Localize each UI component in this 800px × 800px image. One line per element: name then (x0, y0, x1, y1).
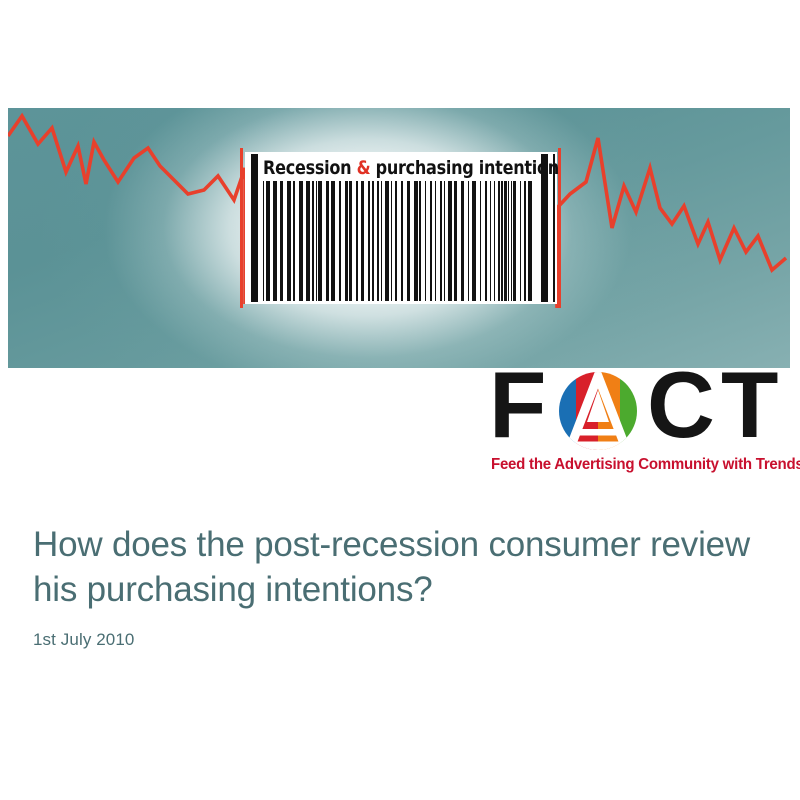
barcode-bars (263, 181, 537, 301)
barcode-title: Recession & purchasing intention (263, 156, 522, 181)
barcode-bar (528, 181, 532, 301)
barcode-bar (480, 181, 481, 301)
barcode-bar (508, 181, 509, 301)
trend-line-right (557, 138, 786, 308)
barcode-bar (461, 181, 464, 301)
barcode-bar (293, 181, 295, 301)
barcode-bar (368, 181, 370, 301)
barcode-bar (414, 181, 418, 301)
fact-logo: F (489, 368, 794, 480)
barcode-bar (419, 181, 421, 301)
barcode-bar (472, 181, 476, 301)
barcode-bar (448, 181, 452, 301)
fact-letter-f: F (489, 364, 544, 446)
barcode-bar (430, 181, 432, 301)
barcode-bar (326, 181, 329, 301)
fact-letter-a-icon (553, 372, 643, 450)
barcode-bar (356, 181, 358, 301)
trend-line-left (8, 116, 245, 304)
fact-tagline: Feed the Advertising Community with Tren… (491, 456, 785, 474)
barcode-bar (377, 181, 379, 301)
barcode-bar (513, 181, 516, 301)
barcode-bar (299, 181, 303, 301)
barcode-bar (440, 181, 442, 301)
barcode-left-accent-line (240, 148, 243, 308)
barcode-bar (494, 181, 495, 301)
barcode-guard-right (541, 154, 548, 302)
barcode-bar (490, 181, 491, 301)
fact-letter-t: T (721, 364, 776, 446)
barcode-bar (316, 181, 317, 301)
barcode-bar (318, 181, 322, 301)
barcode-bar (266, 181, 270, 301)
barcode-graphic: Recession & purchasing intention (245, 152, 557, 304)
barcode-bar (385, 181, 389, 301)
barcode-bar (511, 181, 512, 301)
barcode-bar (273, 181, 277, 301)
barcode-bar (345, 181, 348, 301)
barcode-title-suffix: purchasing intention (370, 157, 559, 179)
barcode-bar (501, 181, 503, 301)
barcode-bar (520, 181, 521, 301)
barcode-bar (361, 181, 364, 301)
barcode-bar (485, 181, 487, 301)
recession-banner: Recession & purchasing intention (8, 108, 790, 368)
barcode-bar (349, 181, 352, 301)
barcode-bar (444, 181, 445, 301)
barcode-guard-left (251, 154, 258, 302)
barcode-bar (381, 181, 382, 301)
barcode-bar (372, 181, 374, 301)
barcode-bar (306, 181, 310, 301)
barcode-bar (435, 181, 436, 301)
barcode-bar (524, 181, 526, 301)
barcode-bar (498, 181, 500, 301)
barcode-bar (504, 181, 507, 301)
barcode-bar (280, 181, 283, 301)
fact-a-colorwheel (553, 372, 643, 450)
barcode-bar (454, 181, 457, 301)
barcode-title-prefix: Recession (263, 157, 357, 179)
barcode-title-ampersand: & (357, 157, 371, 179)
barcode-bar (287, 181, 291, 301)
title-block: How does the post-recession consumer rev… (33, 522, 763, 650)
barcode-bar (395, 181, 397, 301)
barcode-bar (263, 181, 264, 301)
barcode-bar (401, 181, 403, 301)
barcode-bar (468, 181, 469, 301)
barcode-bar (312, 181, 314, 301)
fact-wordmark: F (489, 368, 794, 450)
barcode-bar (407, 181, 410, 301)
barcode-bar (339, 181, 341, 301)
page-title: How does the post-recession consumer rev… (33, 522, 763, 612)
page-date: 1st July 2010 (33, 630, 763, 650)
fact-letter-c: C (647, 364, 713, 446)
barcode-bar (391, 181, 392, 301)
barcode-guard-right-thin (553, 154, 555, 302)
barcode-bar (331, 181, 335, 301)
barcode-bar (425, 181, 426, 301)
